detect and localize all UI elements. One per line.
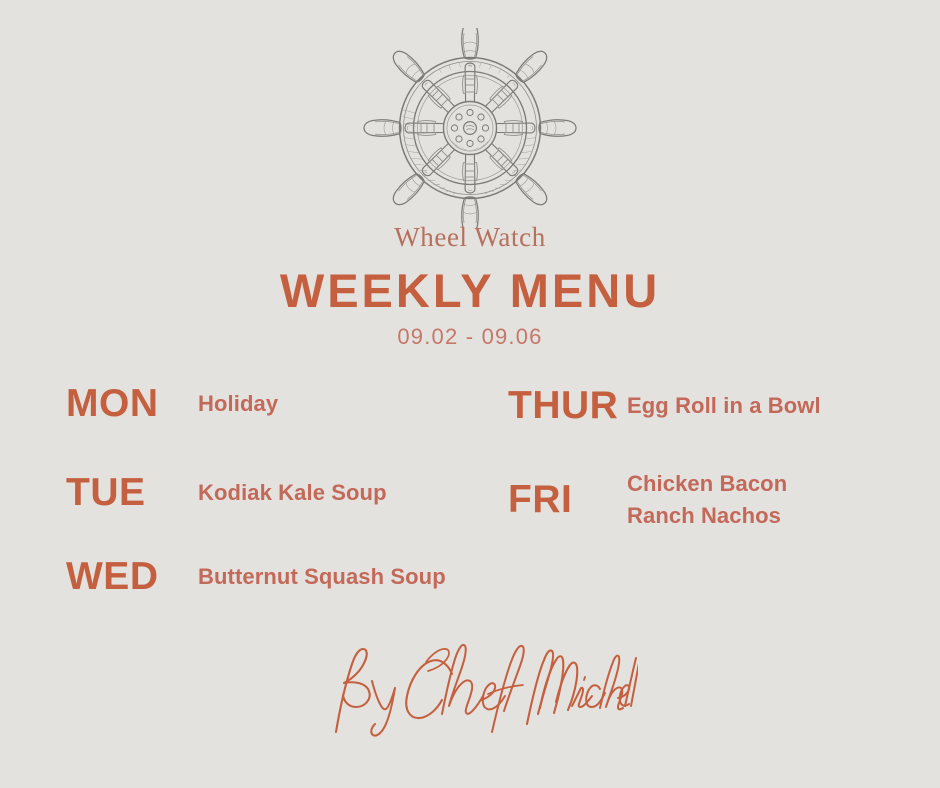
dish-name-thur: Egg Roll in a Bowl bbox=[627, 390, 821, 422]
dish-name-fri-line1: Chicken Bacon bbox=[627, 471, 787, 496]
menu-row-tuesday: TUE Kodiak Kale Soup bbox=[66, 473, 496, 512]
day-label-wed: WED bbox=[66, 557, 198, 596]
weekly-menu-grid: MON Holiday TUE Kodiak Kale Soup WED But… bbox=[0, 372, 940, 612]
date-range: 09.02 - 09.06 bbox=[0, 326, 940, 348]
dish-name-fri-line2: Ranch Nachos bbox=[627, 503, 781, 528]
dish-name-tue: Kodiak Kale Soup bbox=[198, 477, 387, 509]
signature-script-icon: By Chef Michelle bbox=[322, 636, 638, 742]
brand-name: Wheel Watch bbox=[0, 224, 940, 251]
ships-wheel-icon bbox=[355, 28, 585, 228]
weekly-menu-poster: Wheel Watch WEEKLY MENU 09.02 - 09.06 MO… bbox=[0, 0, 940, 788]
menu-row-monday: MON Holiday bbox=[66, 384, 496, 423]
day-label-mon: MON bbox=[66, 384, 198, 423]
dish-name-wed: Butternut Squash Soup bbox=[198, 561, 446, 593]
dish-name-fri: Chicken Bacon Ranch Nachos bbox=[627, 468, 787, 532]
day-label-thur: THUR bbox=[508, 386, 627, 425]
dish-name-mon: Holiday bbox=[198, 388, 278, 420]
menu-row-friday: FRI Chicken Bacon Ranch Nachos bbox=[508, 468, 908, 532]
menu-row-thursday: THUR Egg Roll in a Bowl bbox=[508, 386, 908, 425]
menu-row-wednesday: WED Butternut Squash Soup bbox=[66, 557, 496, 596]
page-title: WEEKLY MENU bbox=[0, 266, 940, 317]
day-label-tue: TUE bbox=[66, 473, 198, 512]
day-label-fri: FRI bbox=[508, 480, 627, 519]
chef-signature: By Chef Michelle bbox=[322, 636, 638, 742]
ships-wheel-illustration bbox=[355, 28, 585, 228]
